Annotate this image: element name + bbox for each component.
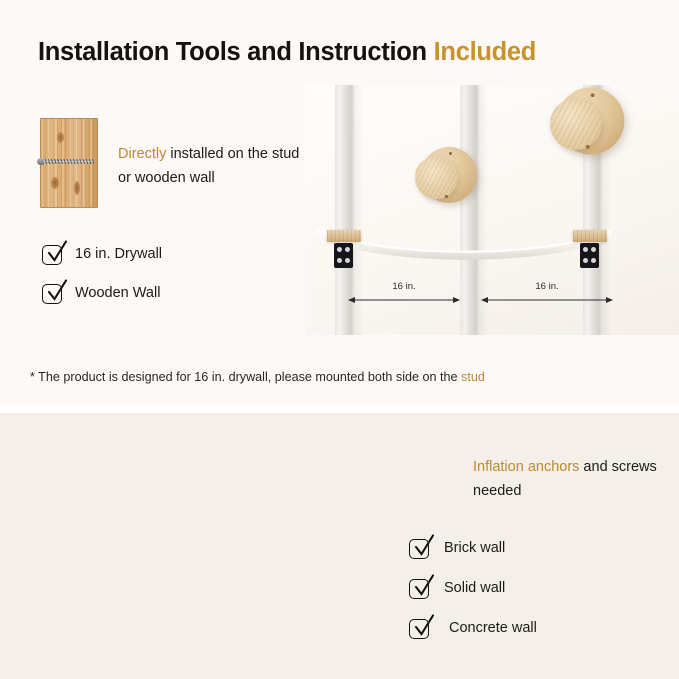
- checklist-label: 16 in. Drywall: [75, 246, 162, 262]
- bracket-wood-block: [573, 230, 607, 242]
- checklist-label: Solid wall: [444, 580, 505, 596]
- mounting-bracket: [573, 230, 607, 272]
- cat-wall-step-round: [415, 145, 477, 207]
- top-description: Directly installed on the stud or wooden…: [118, 142, 308, 190]
- footnote: * The product is designed for 16 in. dry…: [30, 370, 485, 384]
- dimension-label: 16 in.: [348, 281, 460, 292]
- bottom-panel-section: Inflation anchors and screws needed Bric…: [0, 413, 679, 679]
- page-title-accent: Included: [434, 38, 536, 66]
- screw-hole-icon: [449, 152, 452, 155]
- checkmark-icon: [411, 574, 435, 600]
- checklist-item-drywall: 16 in. Drywall: [42, 241, 162, 267]
- checkmark-icon: [44, 240, 68, 266]
- bottom-description: Inflation anchors and screws needed: [473, 455, 673, 503]
- wood-knot-icon: [57, 132, 64, 143]
- dimension-arrow-icon: [348, 294, 460, 306]
- bracket-wood-block: [327, 230, 361, 242]
- screw-hole-icon: [591, 93, 595, 97]
- screw-head: [37, 158, 44, 165]
- cat-wall-step-round: [550, 85, 624, 159]
- screw-icon: [37, 159, 94, 164]
- wood-knot-icon: [74, 181, 80, 195]
- page-title-main: Installation Tools and Instruction: [38, 38, 427, 66]
- checkbox-checked-icon: [42, 282, 64, 304]
- dimension-label: 16 in.: [481, 281, 613, 292]
- checklist-label: Wooden Wall: [75, 285, 160, 301]
- checklist-label: Brick wall: [444, 540, 505, 556]
- top-description-accent: Directly: [118, 146, 166, 162]
- checkbox-checked-icon: [42, 243, 64, 265]
- dimension-left: 16 in.: [348, 281, 460, 307]
- bracket-metal-plate: [580, 243, 599, 268]
- checklist-item-solid-wall: Solid wall: [409, 575, 505, 601]
- screw-threads: [43, 159, 94, 164]
- checkbox-checked-icon: [409, 617, 431, 639]
- checkmark-icon: [411, 534, 435, 560]
- checkmark-icon: [44, 279, 68, 305]
- checklist-item-brick-wall: Brick wall: [409, 535, 505, 561]
- bottom-description-accent: Inflation anchors: [473, 459, 579, 475]
- checklist-label: Concrete wall: [449, 620, 537, 636]
- checklist-item-concrete-wall: Concrete wall: [409, 615, 537, 641]
- screw-hole-icon: [445, 195, 448, 198]
- wood-knot-icon: [51, 177, 59, 189]
- top-panel-section: Installation Tools and Instruction Inclu…: [0, 0, 679, 404]
- checklist-item-wooden-wall: Wooden Wall: [42, 280, 160, 306]
- drywall-stud-mounting-diagram: 16 in. 16 in.: [305, 85, 679, 335]
- footnote-accent: stud: [461, 370, 485, 384]
- wood-board-graphic: [40, 118, 98, 208]
- wall-stud: [460, 85, 479, 335]
- page-title: Installation Tools and Instruction Inclu…: [38, 38, 536, 67]
- footnote-text: * The product is designed for 16 in. dry…: [30, 370, 461, 384]
- bracket-metal-plate: [334, 243, 353, 268]
- dimension-right: 16 in.: [481, 281, 613, 307]
- infographic-page: Installation Tools and Instruction Inclu…: [0, 0, 679, 679]
- checkmark-icon: [411, 614, 435, 640]
- checkbox-checked-icon: [409, 537, 431, 559]
- checkbox-checked-icon: [409, 577, 431, 599]
- mounting-bracket: [327, 230, 361, 272]
- screw-hole-icon: [586, 145, 590, 149]
- dimension-arrow-icon: [481, 294, 613, 306]
- section-divider: [0, 404, 679, 413]
